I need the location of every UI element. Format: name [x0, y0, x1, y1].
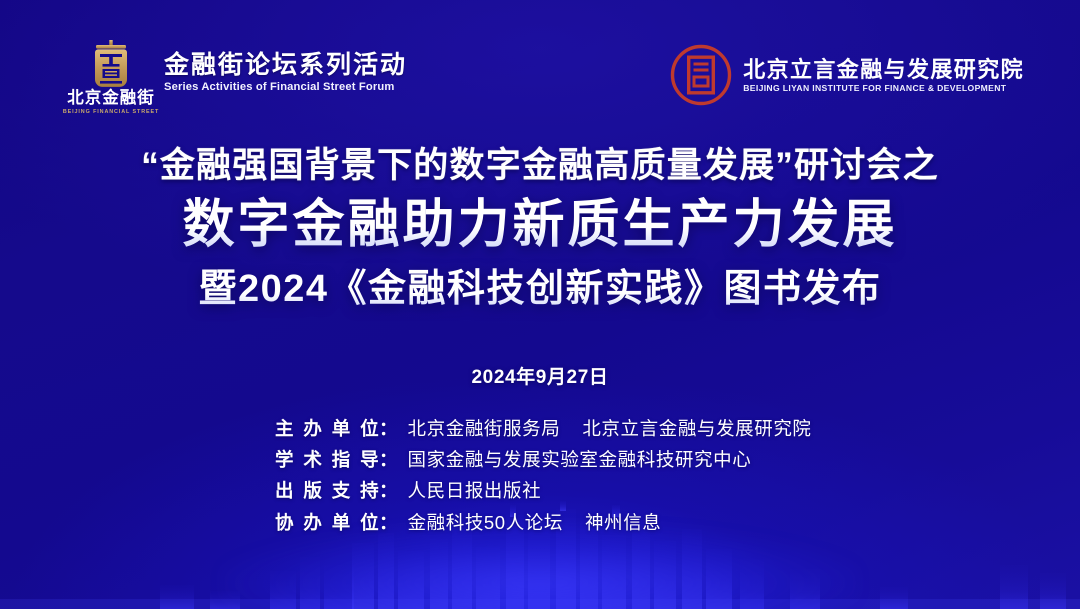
- banner-titles: “金融强国背景下的数字金融高质量发展”研讨会之 数字金融助力新质生产力发展 暨2…: [0, 146, 1080, 312]
- banner-header: 北京金融街 BEIJING FINANCIAL STREET 金融街论坛系列活动…: [0, 40, 1080, 122]
- title-line-2: 数字金融助力新质生产力发展: [0, 196, 1080, 256]
- institute-title-en: BEIJING LIYAN INSTITUTE FOR FINANCE & DE…: [743, 84, 1024, 93]
- credit-value: 人民日报出版社: [408, 480, 542, 502]
- floor-glow: [220, 523, 860, 609]
- credit-label: 学术指导: [275, 449, 379, 471]
- forum-title-cn: 金融街论坛系列活动: [164, 52, 407, 78]
- forum-title-en: Series Activities of Financial Street Fo…: [164, 82, 407, 93]
- credit-value: 国家金融与发展实验室金融科技研究中心: [408, 449, 752, 471]
- round-seal-icon: [670, 44, 732, 106]
- credit-value-part: 神州信息: [585, 512, 661, 533]
- liyan-institute-logo: 北京立言金融与发展研究院 BEIJING LIYAN INSTITUTE FOR…: [670, 44, 1024, 106]
- conference-banner: 北京金融街 BEIJING FINANCIAL STREET 金融街论坛系列活动…: [0, 0, 1080, 609]
- credit-value-part: 北京金融街服务局: [408, 418, 561, 439]
- credit-value: 北京金融街服务局北京立言金融与发展研究院: [408, 418, 812, 440]
- title-line-3: 暨2024《金融科技创新实践》图书发布: [0, 268, 1080, 312]
- credit-label: 协办单位: [275, 512, 379, 534]
- credit-row: 主办单位：北京金融街服务局北京立言金融与发展研究院: [275, 418, 805, 440]
- credit-value-part: 金融科技50人论坛: [408, 512, 563, 533]
- credit-colon: ：: [379, 512, 408, 534]
- gate-tower-icon: [88, 40, 134, 87]
- event-date: 2024年9月27日: [0, 362, 1080, 389]
- credit-value-part: 人民日报出版社: [408, 480, 542, 501]
- credit-value-part: 国家金融与发展实验室金融科技研究中心: [408, 449, 752, 470]
- institute-title-cn: 北京立言金融与发展研究院: [743, 58, 1024, 81]
- bfs-mark: 北京金融街 BEIJING FINANCIAL STREET: [72, 40, 150, 115]
- credit-colon: ：: [379, 449, 408, 471]
- credit-row: 出版支持：人民日报出版社: [275, 480, 805, 502]
- credit-label: 出版支持: [275, 480, 379, 502]
- title-line-1: “金融强国背景下的数字金融高质量发展”研讨会之: [0, 146, 1080, 186]
- liyan-wordmark: 北京立言金融与发展研究院 BEIJING LIYAN INSTITUTE FOR…: [743, 58, 1024, 93]
- beijing-financial-street-logo: 北京金融街 BEIJING FINANCIAL STREET 金融街论坛系列活动…: [72, 40, 407, 115]
- credit-row: 学术指导：国家金融与发展实验室金融科技研究中心: [275, 449, 805, 471]
- credits-block: 主办单位：北京金融街服务局北京立言金融与发展研究院学术指导：国家金融与发展实验室…: [0, 418, 1080, 534]
- bfs-wordmark: 金融街论坛系列活动 Series Activities of Financial…: [164, 40, 407, 93]
- credit-colon: ：: [379, 418, 408, 440]
- credit-colon: ：: [379, 480, 408, 502]
- bfs-mark-cn: 北京金融街: [67, 90, 155, 107]
- credit-value: 金融科技50人论坛神州信息: [408, 512, 662, 534]
- credit-value-part: 北京立言金融与发展研究院: [582, 418, 811, 439]
- credit-row: 协办单位：金融科技50人论坛神州信息: [275, 512, 805, 534]
- credit-label: 主办单位: [275, 418, 379, 440]
- bfs-mark-en: BEIJING FINANCIAL STREET: [63, 110, 159, 115]
